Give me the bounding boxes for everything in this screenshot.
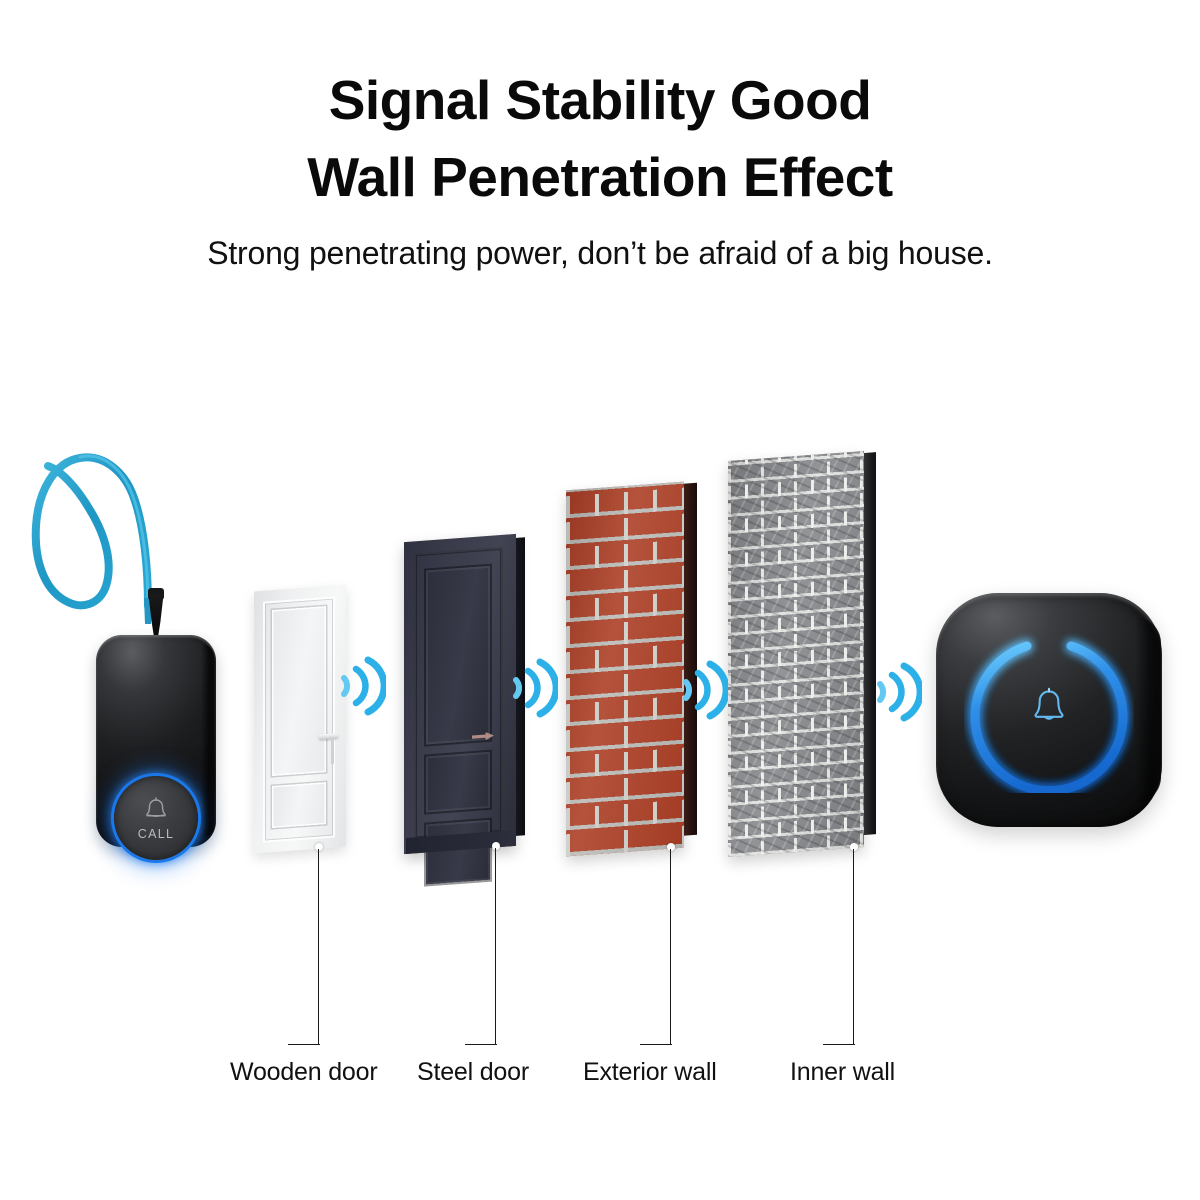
inner-wall-face [728,451,864,857]
inner-wall-texture [728,451,864,857]
label-inner-wall: Inner wall [790,1058,895,1087]
call-button-label: CALL [138,827,174,841]
wooden-door-lock-plate [331,739,334,765]
signal-waves-2 [508,656,558,725]
leader-horizontal [640,1044,672,1045]
leader-horizontal [288,1044,320,1045]
steel-door-panel-upper [426,566,490,745]
bell-icon [1028,687,1070,733]
signal-waves-4 [872,660,922,729]
signal-waves-3 [678,658,728,727]
exterior-wall-face [566,482,684,857]
exterior-wall-shading [566,482,684,857]
barrier-exterior-wall [566,482,684,857]
leader-vertical [318,849,319,1045]
signal-waves-1 [336,654,386,723]
wooden-door-panel-lower [272,782,326,828]
inner-wall-side-edge [863,452,876,835]
transmitter-device[interactable]: CALL [96,635,216,847]
label-steel-door: Steel door [417,1058,529,1087]
call-button[interactable]: CALL [114,776,198,860]
leader-vertical [853,849,854,1045]
penetration-diagram: CALL [0,0,1200,1200]
label-wooden-door: Wooden door [230,1058,377,1087]
steel-door-panel-lower [426,820,490,885]
wooden-door-panel-upper [272,606,326,776]
steel-door-panel-middle [426,752,490,813]
leader-vertical [495,848,496,1045]
receiver-device[interactable] [936,593,1162,827]
barrier-steel-door [404,534,516,854]
label-exterior-wall: Exterior wall [583,1058,717,1087]
leader-horizontal [465,1044,497,1045]
leader-vertical [670,849,671,1045]
barrier-inner-wall [728,451,864,857]
barrier-wooden-door [254,585,346,854]
bell-icon [141,796,171,826]
leader-horizontal [823,1044,855,1045]
